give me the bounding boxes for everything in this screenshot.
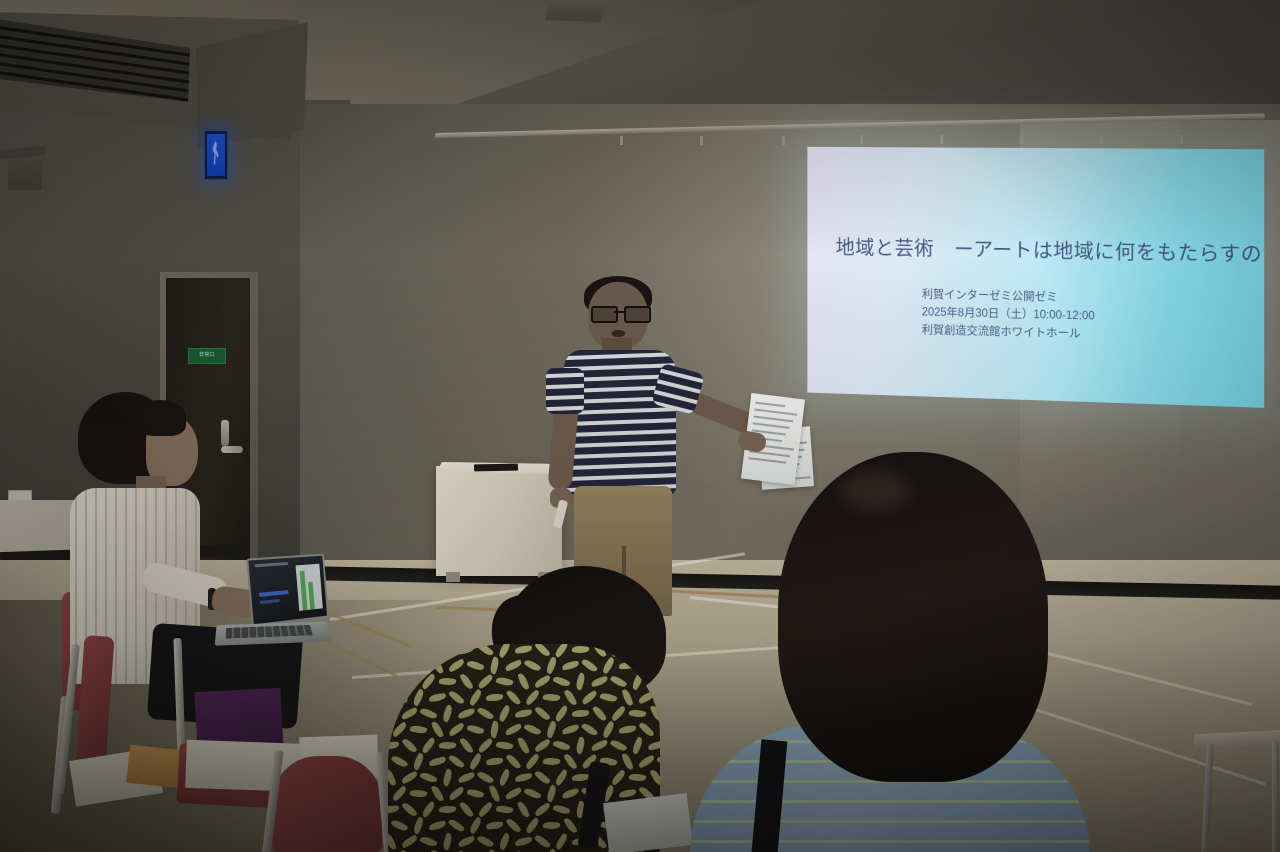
shirt-stripe <box>564 462 676 471</box>
leaf-motif <box>419 706 437 720</box>
leaf-motif <box>477 644 495 658</box>
leaf-motif <box>388 644 396 659</box>
leaf-motif <box>545 656 559 674</box>
leaf-motif <box>429 693 447 702</box>
eyeglasses-icon <box>591 306 647 319</box>
leaf-motif <box>657 721 660 738</box>
leaf-motif <box>388 805 399 813</box>
leaf-motif <box>610 769 627 786</box>
leaf-motif <box>610 674 628 689</box>
leaf-motif <box>447 722 465 737</box>
leaf-motif <box>468 689 484 707</box>
shirt-stripe <box>546 370 584 379</box>
attendee-hair <box>778 452 1048 782</box>
leaf-motif <box>409 724 427 735</box>
leaf-motif <box>448 817 465 833</box>
leaf-motif <box>609 738 627 753</box>
exit-sign-icon: 非常口 <box>188 348 226 364</box>
leaf-motif <box>409 660 427 671</box>
document-text-line <box>754 409 797 416</box>
leaf-motif <box>552 739 570 752</box>
leaf-motif <box>428 820 446 830</box>
leaf-motif <box>495 676 513 688</box>
leaf-motif <box>477 706 495 722</box>
leaf-motif <box>466 787 484 799</box>
leaf-motif <box>580 690 598 705</box>
leaf-motif <box>545 848 557 852</box>
leaf-motif <box>534 769 551 786</box>
shirt-stripe <box>564 429 676 438</box>
leaf-motif <box>637 755 655 769</box>
leaf-motif <box>517 736 530 754</box>
leaf-motif <box>619 725 636 733</box>
leaf-motif <box>459 736 474 754</box>
leaf-motif <box>457 772 475 784</box>
glasses-lens-left <box>591 306 618 323</box>
leaf-motif <box>637 691 655 705</box>
leaf-motif <box>430 848 444 852</box>
cabinet-slot <box>474 464 518 472</box>
leaf-motif <box>543 757 561 766</box>
leaf-motif <box>412 752 426 770</box>
leaf-motif <box>517 672 529 690</box>
leaf-motif <box>554 769 570 787</box>
leaf-motif <box>431 784 445 802</box>
rail-clip <box>782 136 785 145</box>
leaf-motif <box>441 768 453 786</box>
leaf-motif <box>552 803 570 816</box>
leaf-motif <box>477 770 495 786</box>
leaf-motif <box>533 675 551 689</box>
leaf-motif <box>388 678 399 685</box>
leaf-motif <box>572 774 589 781</box>
leaf-motif <box>431 656 444 674</box>
presenter-left-sleeve <box>546 368 584 414</box>
document-text-line <box>755 402 785 407</box>
leaf-motif <box>447 786 465 801</box>
leaf-motif <box>477 738 495 754</box>
leaf-motif <box>420 673 437 690</box>
rail-clip <box>700 136 703 145</box>
leaf-motif <box>619 789 637 798</box>
leaf-motif <box>439 741 457 750</box>
glasses-bridge <box>614 311 624 313</box>
leaf-motif <box>439 677 457 686</box>
shirt-stripe <box>564 352 676 361</box>
presenter-mouth <box>612 330 625 337</box>
side-table-leg <box>1272 742 1279 852</box>
leaf-motif <box>401 737 417 755</box>
leaf-motif <box>563 752 577 770</box>
leaf-motif <box>561 660 579 670</box>
laptop-screen[interactable] <box>246 554 329 627</box>
leaf-motif <box>517 800 530 818</box>
leaf-motif <box>400 707 418 720</box>
leaf-motif <box>411 688 425 706</box>
leaf-motif <box>515 773 533 782</box>
shirt-stripe <box>546 392 584 401</box>
shirt-stripe <box>690 800 1090 803</box>
leaf-motif <box>543 821 561 830</box>
leaf-motif <box>601 657 616 675</box>
leaf-motif <box>459 800 474 818</box>
leaf-motif <box>497 704 512 722</box>
leaf-motif <box>575 736 587 754</box>
door-sign-label: 非常口 <box>189 349 225 361</box>
slide-surface: 地域と芸術 ーアートは地域に何をもたらすのか 利賀インターゼミ公開ゼミ 2025… <box>807 147 1264 408</box>
shirt-stripe <box>690 820 1090 823</box>
leaf-motif <box>564 688 578 706</box>
leaf-motif <box>391 690 409 706</box>
leaf-motif <box>524 689 541 706</box>
leaf-motif <box>545 784 558 802</box>
leaf-motif <box>515 837 533 847</box>
handout-paper <box>603 793 693 852</box>
wall-speaker-box <box>8 160 42 190</box>
shirt-stripe <box>546 381 584 390</box>
leaf-motif <box>419 835 437 849</box>
leaf-motif <box>468 816 483 834</box>
leaf-motif <box>390 754 408 769</box>
leaf-motif <box>590 739 608 751</box>
ceiling-fixture-icon <box>545 0 607 22</box>
leaf-motif <box>601 720 616 738</box>
rail-clip <box>1100 135 1103 144</box>
leaf-motif <box>523 722 541 737</box>
leaf-motif <box>574 672 586 690</box>
rail-clip <box>1180 135 1183 144</box>
slide-subtitle: 利賀インターゼミ公開ゼミ 2025年8月30日（土）10:00-12:00 利賀… <box>922 287 1095 344</box>
leaf-motif <box>628 708 646 718</box>
leaf-motif <box>572 645 590 653</box>
attendee-fringe <box>134 400 186 436</box>
leaf-motif <box>505 817 521 835</box>
exit-sign-panel <box>207 134 225 176</box>
leaf-motif <box>400 771 418 785</box>
rail-clip <box>940 135 943 144</box>
leaf-motif <box>388 768 397 786</box>
attendee-hair-highlight <box>840 470 910 510</box>
leaf-motif <box>390 818 408 833</box>
leaf-motif <box>476 834 494 849</box>
leaf-motif <box>486 822 503 830</box>
leaf-motif <box>388 704 396 722</box>
leaf-motif <box>420 801 436 818</box>
leaf-motif <box>497 768 511 786</box>
leaf-motif <box>439 805 456 813</box>
shirt-pinstripe <box>115 488 117 684</box>
leaf-motif <box>489 784 501 802</box>
leaf-motif <box>468 753 484 771</box>
leaf-motif <box>441 644 454 659</box>
leaf-motif <box>391 785 408 802</box>
leaf-motif <box>610 705 627 721</box>
leaf-motif <box>656 690 660 704</box>
document-text-line <box>754 415 794 421</box>
seminar-room-photo: 地域と芸術 ーアートは地域に何をもたらすのか 利賀インターゼミ公開ゼミ 2025… <box>0 0 1280 852</box>
shirt-stripe <box>564 473 676 482</box>
leaf-motif <box>629 773 647 783</box>
shirt-stripe <box>564 418 676 427</box>
slide-title: 地域と芸術 ーアートは地域に何をもたらすのか <box>836 231 1265 267</box>
document-text-line <box>753 422 790 428</box>
leaf-motif <box>504 723 522 736</box>
leaf-motif <box>504 659 522 671</box>
leaf-motif <box>419 644 437 657</box>
leaf-motif <box>441 704 454 722</box>
leaf-motif <box>448 689 465 706</box>
chair-backrest <box>272 756 382 852</box>
shirt-stripe <box>564 440 676 449</box>
shirt-pinstripe <box>135 488 137 684</box>
leaf-motif <box>495 804 513 815</box>
leaf-motif <box>534 705 551 722</box>
leaf-motif <box>563 816 578 834</box>
emergency-exit-light-icon <box>204 130 228 180</box>
leaf-motif <box>515 645 532 653</box>
leaf-motif <box>553 644 570 658</box>
leaf-motif <box>477 801 495 817</box>
leaf-motif <box>524 817 541 834</box>
leaf-motif <box>448 753 465 770</box>
leaf-motif <box>497 644 512 659</box>
leaf-motif <box>553 705 569 723</box>
leaf-motif <box>572 710 589 718</box>
leaf-motif <box>523 786 541 800</box>
leaf-motif <box>419 771 437 785</box>
leaf-motif <box>545 720 558 738</box>
leaf-motif <box>488 848 500 852</box>
leaf-motif <box>420 737 437 754</box>
leaf-motif <box>457 708 475 719</box>
laptop-keys <box>226 625 313 639</box>
leaf-motif <box>621 752 633 770</box>
glasses-lens-right <box>624 306 651 323</box>
leaf-motif <box>388 832 397 850</box>
leaf-motif <box>561 788 579 799</box>
leaf-motif <box>523 658 541 673</box>
leaf-motif <box>504 787 522 800</box>
leaf-motif <box>459 672 473 690</box>
leaf-motif <box>495 740 513 751</box>
leaf-motif <box>401 801 418 818</box>
leaf-motif <box>429 757 447 767</box>
rail-clip <box>1020 135 1023 144</box>
leaf-motif <box>402 673 418 691</box>
leaf-motif <box>391 658 409 674</box>
leaf-motif <box>650 704 660 722</box>
shirt-stripe <box>564 451 676 460</box>
leaf-motif <box>388 742 399 750</box>
seated-attendee-center <box>388 566 698 852</box>
leaf-motif <box>650 768 660 786</box>
leaf-motif <box>457 835 475 847</box>
leaf-motif <box>543 693 561 703</box>
leaf-motif <box>466 723 484 736</box>
leaf-motif <box>630 672 644 690</box>
leaf-motif <box>592 704 607 722</box>
leaf-motif <box>466 659 484 672</box>
leaf-motif <box>447 658 465 672</box>
laptop-ui-titlebar <box>255 562 288 567</box>
leaf-motif <box>631 736 645 754</box>
leaf-motif <box>431 720 444 738</box>
leaf-motif <box>400 644 418 656</box>
leaf-motif <box>391 721 409 737</box>
leaf-motif <box>489 656 501 674</box>
shirt-stripe <box>546 403 584 412</box>
leaf-motif <box>412 816 426 834</box>
leaf-motif <box>409 788 427 798</box>
leaf-motif <box>524 753 541 770</box>
leaf-motif <box>599 691 617 703</box>
leaf-motif <box>581 721 599 737</box>
leaf-motif <box>552 675 570 689</box>
leaf-motif <box>561 724 579 735</box>
laptop-ui-bar <box>260 599 280 604</box>
leaf-motif <box>486 758 503 765</box>
shirt-pinstripe <box>125 488 127 684</box>
leaf-motif <box>622 688 634 706</box>
slide-venue: 利賀創造交流館ホワイトホール <box>922 322 1095 344</box>
leaf-motif <box>534 833 551 850</box>
shirt-stripe <box>690 840 1090 843</box>
projection-screen: 地域と芸術 ーアートは地域に何をもたらすのか 利賀インターゼミ公開ゼミ 2025… <box>807 147 1264 408</box>
leaf-motif <box>515 709 533 718</box>
leaf-motif <box>554 833 570 851</box>
leaf-motif <box>534 644 550 658</box>
leaf-motif <box>533 738 551 752</box>
laptop-ui-bar <box>259 590 288 597</box>
leaf-motif <box>477 674 495 690</box>
seated-attendee-right <box>690 452 1090 852</box>
leaf-motif <box>486 694 503 701</box>
leaf-motif <box>647 740 660 750</box>
leaf-motif <box>590 676 608 688</box>
leaf-motif <box>581 657 598 674</box>
leaf-motif <box>506 689 522 707</box>
rail-clip <box>620 136 623 145</box>
leaf-motif <box>533 802 551 817</box>
leaf-motif <box>442 832 454 850</box>
leaf-motif <box>498 832 512 850</box>
leaf-motif <box>656 755 660 769</box>
leaf-motif <box>457 644 475 655</box>
leaf-motif <box>506 753 522 771</box>
leaf-motif <box>400 834 418 848</box>
leaf-motif <box>489 720 500 738</box>
rail-clip <box>860 135 863 144</box>
leaf-motif <box>638 721 654 738</box>
